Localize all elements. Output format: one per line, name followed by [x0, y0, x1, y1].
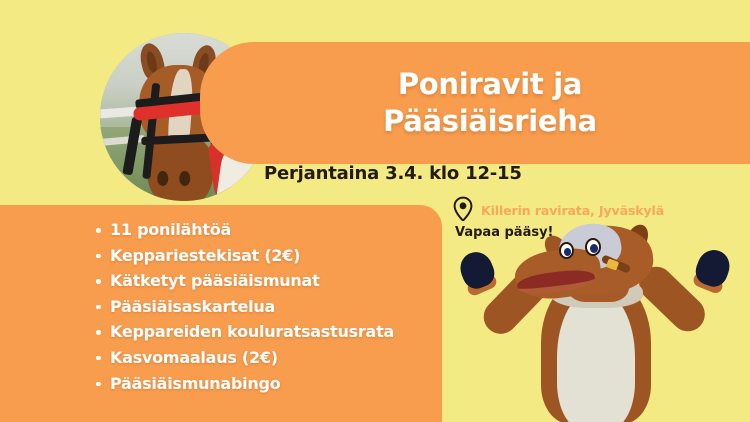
event-date: Perjantaina 3.4. klo 12-15 [264, 163, 522, 184]
pony-nostril-right [179, 171, 190, 186]
venue-row: Killerin ravirata, Jyväskylä [452, 196, 664, 224]
event-poster: Poniravit ja Pääsiäisrieha Perjantaina 3… [0, 0, 750, 422]
map-pin-icon [452, 196, 474, 224]
list-item: Keppariestekisat (2€) [96, 243, 442, 269]
mascot-pupil-left [564, 248, 571, 256]
list-item: Pääsiäisaskartelua [96, 294, 442, 320]
mascot-belly [557, 290, 635, 422]
admission-note: Vapaa pääsy! [455, 225, 554, 240]
program-panel: 11 ponilähtöä Keppariestekisat (2€) Kätk… [0, 205, 442, 422]
list-item: Keppareiden kouluratsastusrata [96, 319, 442, 345]
venue-name: Killerin ravirata, Jyväskylä [481, 203, 664, 218]
bridle-strap-side [122, 117, 142, 176]
poster-title-line-1: Poniravit ja [398, 66, 582, 103]
pony-nostril-left [157, 171, 168, 186]
list-item: Kasvomaalaus (2€) [96, 345, 442, 371]
pony-muzzle [147, 135, 213, 201]
program-list: 11 ponilähtöä Keppariestekisat (2€) Kätk… [96, 217, 442, 396]
horse-mascot [455, 228, 750, 422]
mascot-pupil-right [590, 244, 598, 253]
list-item: 11 ponilähtöä [96, 217, 442, 243]
poster-title-line-2: Pääsiäisrieha [383, 103, 597, 140]
list-item: Pääsiäismunabingo [96, 371, 442, 397]
title-banner: Poniravit ja Pääsiäisrieha [200, 42, 750, 164]
list-item: Kätketyt pääsiäismunat [96, 268, 442, 294]
